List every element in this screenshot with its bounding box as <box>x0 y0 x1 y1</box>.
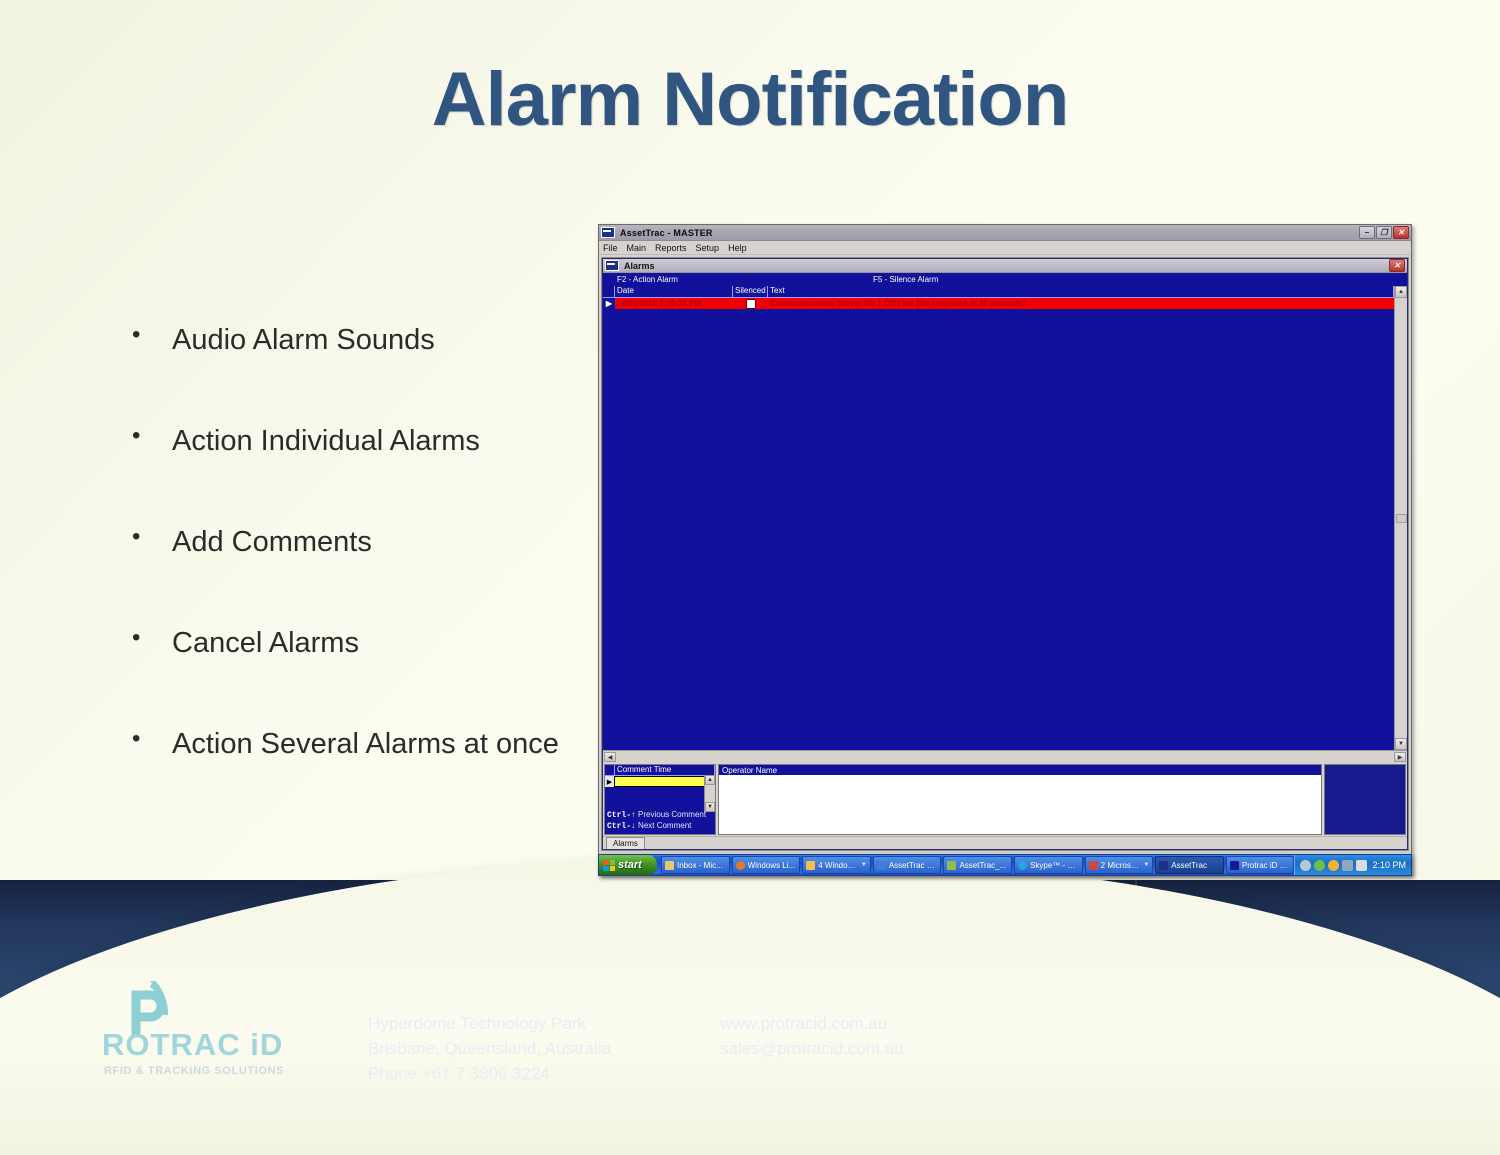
scroll-down-icon[interactable]: ▼ <box>1395 738 1407 750</box>
column-header-date[interactable]: Date <box>615 286 733 297</box>
scroll-right-icon[interactable]: ▶ <box>1394 752 1406 762</box>
taskbar-item[interactable]: 4 Window...▼ <box>802 856 871 874</box>
alarm-grid: Date Silenced Text ▶ 16/06/2010 2:10:31 … <box>603 286 1394 750</box>
assettrac-application-window: AssetTrac - MASTER – ❐ ✕ File Main Repor… <box>598 224 1412 876</box>
start-button[interactable]: start <box>599 855 657 875</box>
hint-prev-label: Previous Comment <box>636 810 706 819</box>
comment-panel: Comment Time ▶ ▲ ▼ Ctrl-↑ Previous Comme… <box>603 763 1407 836</box>
alarm-grid-header: Date Silenced Text <box>603 286 1394 298</box>
f5-silence-alarm-label[interactable]: F5 - Silence Alarm <box>873 275 938 284</box>
alarms-window-icon <box>605 260 619 271</box>
taskbar-item[interactable]: 2 Microsof...▼ <box>1085 856 1154 874</box>
app-icon <box>1230 861 1239 870</box>
taskbar-item-label: Inbox - Mic... <box>677 861 723 870</box>
cell-text: Communications Server No 1 Off Line (No … <box>768 298 1394 309</box>
alarm-grid-wrapper: Date Silenced Text ▶ 16/06/2010 2:10:31 … <box>603 286 1407 750</box>
column-header-operator-name[interactable]: Operator Name <box>719 765 1321 775</box>
minimize-button[interactable]: – <box>1359 226 1375 239</box>
alarm-grid-horizontal-scrollbar[interactable]: ◀ ▶ <box>603 750 1407 763</box>
operator-name-panel: Operator Name <box>718 764 1322 835</box>
function-key-bar: F2 - Action Alarm F5 - Silence Alarm <box>603 273 1407 286</box>
scroll-down-icon[interactable]: ▼ <box>705 802 715 812</box>
menu-item-file[interactable]: File <box>603 243 618 253</box>
logo-brand-text: ROTRAC iD <box>102 1027 283 1063</box>
taskbar-item[interactable]: Windows Li... <box>732 856 801 874</box>
protrac-id-logo: ROTRAC iD RFID & TRACKING SOLUTIONS <box>96 985 301 1090</box>
column-header-comment-time[interactable]: Comment Time <box>615 765 715 775</box>
menu-item-main[interactable]: Main <box>627 243 647 253</box>
comment-time-grid: Comment Time ▶ ▲ ▼ Ctrl-↑ Previous Comme… <box>604 764 716 835</box>
footer-address: Hyperdome Technology Park Brisbane, Quee… <box>368 1011 611 1086</box>
bullet-text: Audio Alarm Sounds <box>172 318 435 362</box>
app-icon <box>601 227 615 238</box>
windows-logo-icon <box>603 860 615 871</box>
window-titlebar[interactable]: AssetTrac - MASTER – ❐ ✕ <box>599 225 1411 241</box>
comment-keyboard-hints: Ctrl-↑ Previous Comment Ctrl-↓ Next Comm… <box>607 810 706 832</box>
close-icon: ✕ <box>1390 260 1404 271</box>
chevron-down-icon[interactable]: ▼ <box>1143 862 1149 868</box>
alarm-grid-body: ▶ 16/06/2010 2:10:31 PM Communications S… <box>603 298 1394 750</box>
list-item: • Action Individual Alarms <box>118 419 588 463</box>
taskbar-item-label: AssetTrac_... <box>959 861 1006 870</box>
hint-next-key: Ctrl-↓ <box>607 822 636 831</box>
taskbar-item[interactable]: Inbox - Mic... <box>661 856 730 874</box>
close-icon: ✕ <box>1394 227 1408 238</box>
hint-prev-key: Ctrl-↑ <box>607 811 636 820</box>
taskbar-item-label: Protrac iD R... <box>1242 861 1291 870</box>
footer-contact: www.protracid.com.au sales@protracid.com… <box>720 1011 904 1061</box>
taskbar-item-label: Skype™ - m... <box>1030 861 1079 870</box>
alarms-close-button[interactable]: ✕ <box>1389 259 1405 272</box>
comment-time-input[interactable] <box>614 776 715 787</box>
scrollbar-thumb[interactable] <box>1396 514 1407 523</box>
window-title: AssetTrac - MASTER <box>620 228 1359 238</box>
tab-alarms[interactable]: Alarms <box>606 837 645 849</box>
show-hidden-icons-icon[interactable] <box>1300 860 1311 871</box>
cell-date: 16/06/2010 2:10:31 PM <box>615 298 733 309</box>
scroll-up-icon[interactable]: ▲ <box>1395 286 1407 298</box>
bullet-text: Action Individual Alarms <box>172 419 480 463</box>
chevron-down-icon[interactable]: ▼ <box>861 862 867 868</box>
f2-action-alarm-label[interactable]: F2 - Action Alarm <box>617 275 678 284</box>
folder-icon <box>806 861 815 870</box>
alarm-grid-vertical-scrollbar[interactable]: ▲ ▼ <box>1394 286 1407 750</box>
taskbar-item-active[interactable]: AssetTrac <box>1155 856 1224 874</box>
hint-next-label: Next Comment <box>636 821 692 830</box>
alarms-window-titlebar[interactable]: Alarms ✕ <box>603 259 1407 273</box>
bullet-text: Cancel Alarms <box>172 621 359 665</box>
menu-item-help[interactable]: Help <box>728 243 747 253</box>
windows-taskbar: start Inbox - Mic... Windows Li... 4 Win… <box>598 854 1412 876</box>
address-line-1: Hyperdome Technology Park <box>368 1011 611 1036</box>
skype-icon <box>1018 861 1027 870</box>
bullet-text: Action Several Alarms at once <box>172 722 559 766</box>
app-icon <box>947 861 956 870</box>
address-line-3: Phone +61 7 3806 3224 <box>368 1061 611 1086</box>
minimize-icon: – <box>1360 227 1374 238</box>
comment-grid-scrollbar[interactable]: ▲ ▼ <box>704 775 715 812</box>
operator-name-value[interactable] <box>719 775 1321 834</box>
taskbar-item[interactable]: AssetTrac V... <box>873 856 942 874</box>
menu-item-reports[interactable]: Reports <box>655 243 687 253</box>
row-selector-header <box>603 286 615 297</box>
taskbar-item[interactable]: AssetTrac_... <box>943 856 1012 874</box>
column-header-text[interactable]: Text <box>768 286 1394 297</box>
cell-silenced[interactable] <box>733 298 768 309</box>
app-icon <box>1159 861 1168 870</box>
menu-bar: File Main Reports Setup Help <box>599 241 1411 255</box>
logo-tagline-text: RFID & TRACKING SOLUTIONS <box>104 1065 284 1077</box>
bullet-marker-icon: • <box>118 318 172 352</box>
taskbar-item-label: AssetTrac <box>1171 861 1207 870</box>
email-address: sales@protracid.com.au <box>720 1036 904 1061</box>
comment-row[interactable]: ▶ <box>605 776 715 787</box>
restore-button[interactable]: ❐ <box>1376 226 1392 239</box>
comment-row-selector-header <box>605 765 615 775</box>
taskbar-item-label: 4 Window... <box>818 861 858 870</box>
silenced-checkbox[interactable] <box>746 299 756 309</box>
bullet-marker-icon: • <box>118 621 172 655</box>
column-header-silenced[interactable]: Silenced <box>733 286 768 297</box>
scroll-up-icon[interactable]: ▲ <box>705 775 715 785</box>
taskbar-item[interactable]: Protrac iD R... <box>1226 856 1295 874</box>
address-line-2: Brisbane, Queensland, Australia <box>368 1036 611 1061</box>
network-icon[interactable] <box>1342 860 1353 871</box>
app-icon <box>665 861 674 870</box>
mdi-client-area: Alarms ✕ F2 - Action Alarm F5 - Silence … <box>601 257 1409 851</box>
app-icon <box>1089 861 1098 870</box>
system-tray: 2:10 PM <box>1294 855 1411 875</box>
start-label: start <box>618 859 642 871</box>
comment-row-marker-icon: ▶ <box>605 776 614 787</box>
list-item: • Cancel Alarms <box>118 621 588 665</box>
taskbar-item-label: 2 Microsof... <box>1101 861 1141 870</box>
alarms-window-title: Alarms <box>624 261 1389 271</box>
bullet-list: • Audio Alarm Sounds • Action Individual… <box>118 318 588 823</box>
row-marker-icon: ▶ <box>603 298 615 309</box>
list-item: • Audio Alarm Sounds <box>118 318 588 362</box>
messenger-icon[interactable] <box>1328 860 1339 871</box>
comment-grid-header: Comment Time <box>605 765 715 776</box>
menu-item-setup[interactable]: Setup <box>696 243 720 253</box>
alarms-window: Alarms ✕ F2 - Action Alarm F5 - Silence … <box>602 258 1408 850</box>
bullet-marker-icon: • <box>118 722 172 756</box>
list-item: • Add Comments <box>118 520 588 564</box>
alarm-detail-blue-panel <box>1324 764 1406 835</box>
list-item: • Action Several Alarms at once <box>118 722 588 766</box>
taskbar-item[interactable]: Skype™ - m... <box>1014 856 1083 874</box>
update-icon[interactable] <box>1356 860 1367 871</box>
taskbar-items: Inbox - Mic... Windows Li... 4 Window...… <box>657 856 1294 874</box>
website-url: www.protracid.com.au <box>720 1011 904 1036</box>
app-icon <box>877 861 886 870</box>
close-button[interactable]: ✕ <box>1393 226 1409 239</box>
app-icon <box>736 861 745 870</box>
bullet-marker-icon: • <box>118 419 172 453</box>
scroll-left-icon[interactable]: ◀ <box>604 752 616 762</box>
restore-icon: ❐ <box>1377 227 1391 238</box>
page-title: Alarm Notification <box>0 56 1500 143</box>
bullet-marker-icon: • <box>118 520 172 554</box>
bullet-text: Add Comments <box>172 520 372 564</box>
table-row[interactable]: ▶ 16/06/2010 2:10:31 PM Communications S… <box>603 298 1394 309</box>
taskbar-clock[interactable]: 2:10 PM <box>1372 860 1406 870</box>
taskbar-item-label: AssetTrac V... <box>889 861 938 870</box>
tab-strip: Alarms <box>603 836 1407 849</box>
taskbar-item-label: Windows Li... <box>748 861 796 870</box>
security-shield-icon[interactable] <box>1314 860 1325 871</box>
